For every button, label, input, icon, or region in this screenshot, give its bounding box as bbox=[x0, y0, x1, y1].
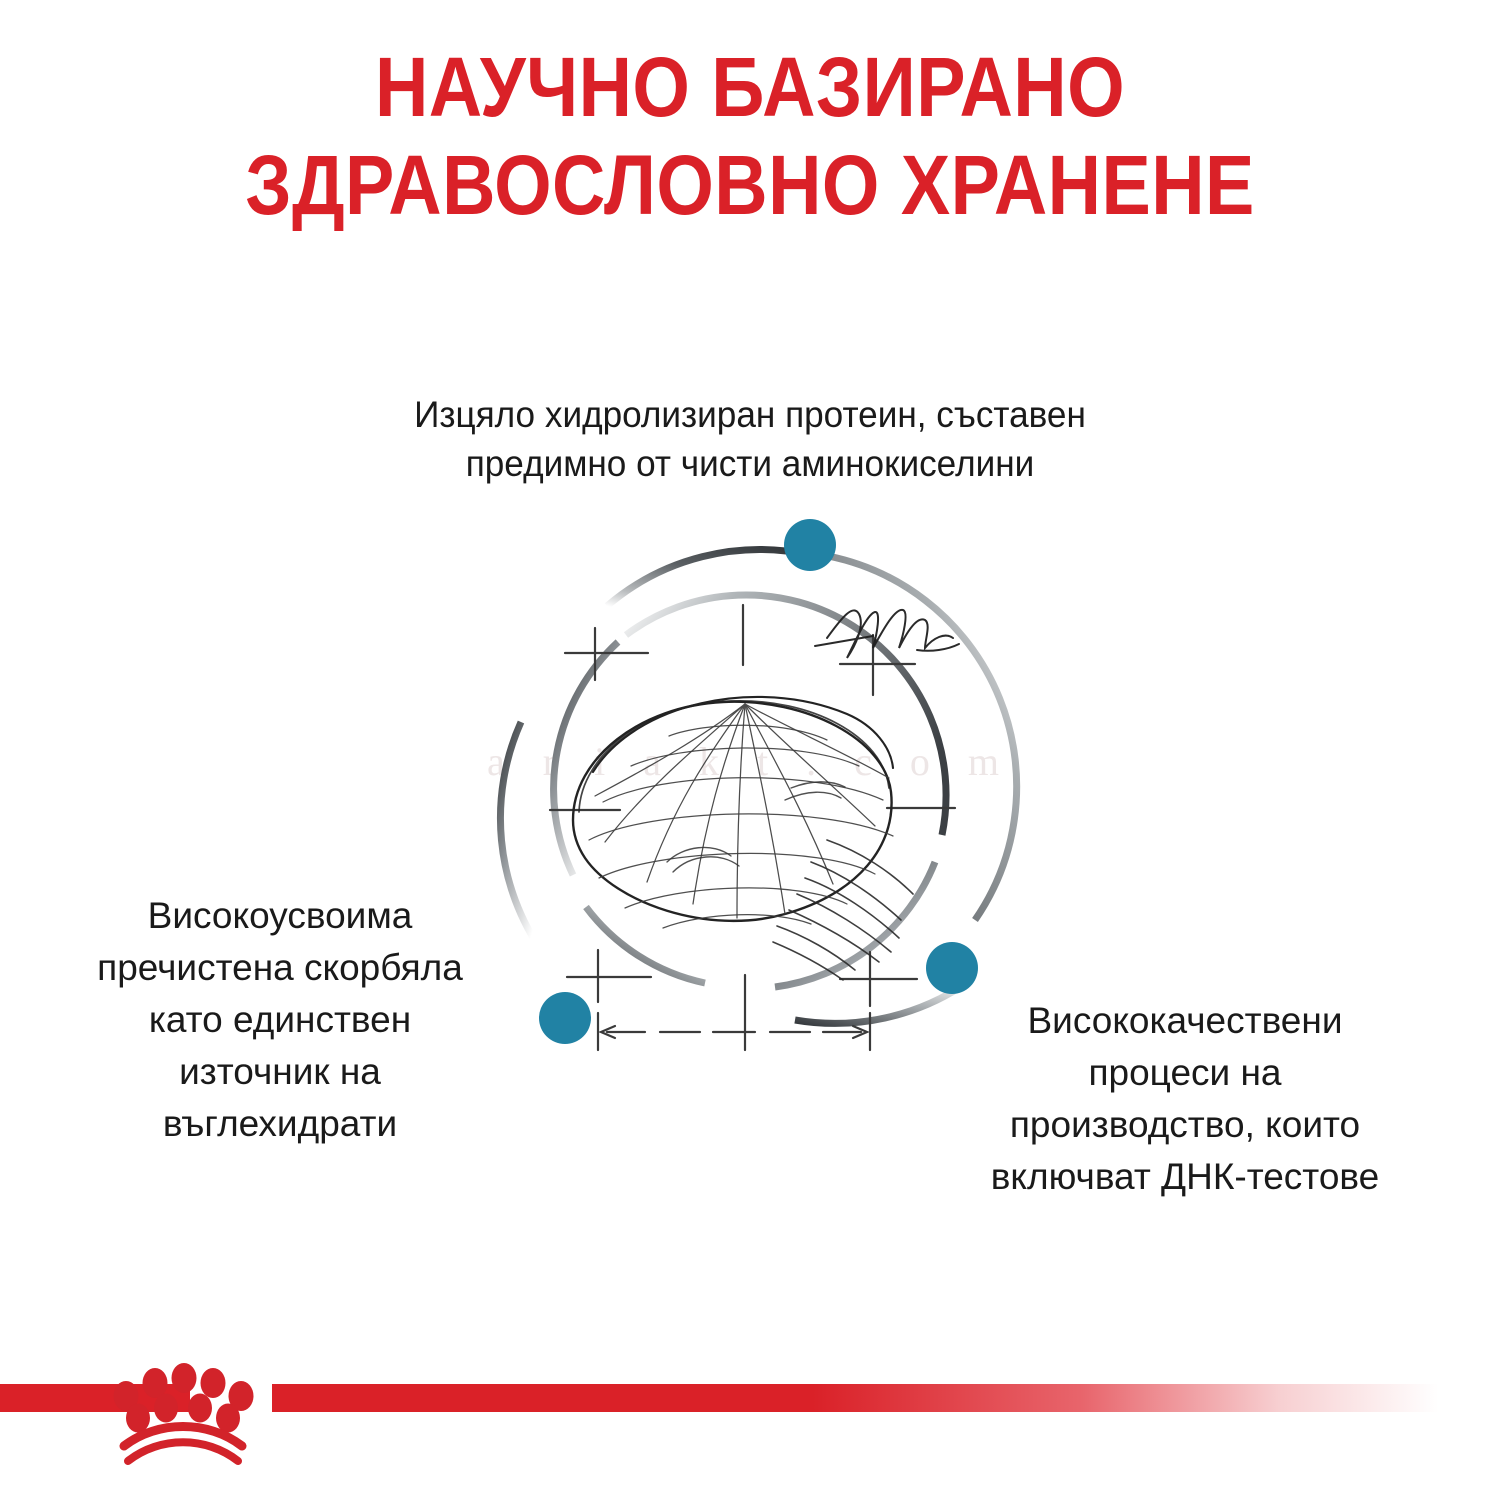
royal-canin-crown-logo bbox=[100, 1360, 265, 1480]
dimension-line bbox=[598, 1013, 870, 1050]
kibble-outline bbox=[573, 697, 893, 921]
callout-top-protein: Изцяло хидролизиран протеин, съставен пр… bbox=[351, 390, 1149, 488]
kibble-shading bbox=[773, 840, 913, 980]
kibble-sketch bbox=[550, 605, 959, 1050]
title-line-1: НАУЧНО БАЗИРАНО bbox=[90, 38, 1410, 136]
kibble-diagram bbox=[455, 490, 1055, 1110]
title-line-2: ЗДРАВОСЛОВНО ХРАНЕНЕ bbox=[90, 136, 1410, 234]
registration-marks bbox=[550, 605, 955, 1050]
footer-band-right bbox=[272, 1384, 1500, 1412]
dot-right bbox=[926, 942, 978, 994]
dot-bottom-left bbox=[539, 992, 591, 1044]
page-title: НАУЧНО БАЗИРАНО ЗДРАВОСЛОВНО ХРАНЕНЕ bbox=[0, 38, 1500, 234]
footer-bar bbox=[0, 1360, 1500, 1500]
poster-root: НАУЧНО БАЗИРАНО ЗДРАВОСЛОВНО ХРАНЕНЕ Изц… bbox=[0, 0, 1500, 1500]
dot-top bbox=[784, 519, 836, 571]
callout-left-starch: Високоусвоима пречистена скорбяла като е… bbox=[80, 890, 480, 1150]
